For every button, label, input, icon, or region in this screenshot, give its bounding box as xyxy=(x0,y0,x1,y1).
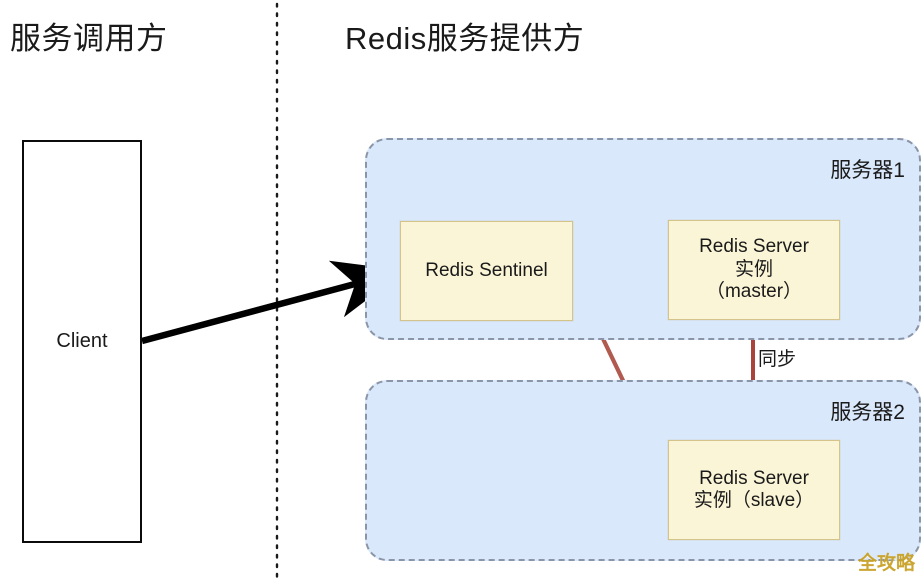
section-title-provider: Redis服务提供方 xyxy=(345,22,584,56)
node-redis-server-slave[interactable]: Redis Server 实例（slave） xyxy=(668,440,840,540)
server-group-1-label: 服务器1 xyxy=(830,154,905,184)
client-box[interactable]: Client xyxy=(22,140,142,543)
diagram-canvas: 服务调用方 Redis服务提供方 Client 服务器1 服务器2 Redis … xyxy=(0,0,922,584)
node-redis-server-master-line-3: （master） xyxy=(706,281,802,303)
server-group-2-label: 服务器2 xyxy=(830,396,905,426)
node-redis-server-slave-line-1: Redis Server xyxy=(699,468,809,490)
watermark: 全攻略 xyxy=(858,548,915,575)
client-label: Client xyxy=(56,330,107,353)
node-redis-server-master-line-1: Redis Server xyxy=(699,236,809,258)
node-redis-sentinel-line-1: Redis Sentinel xyxy=(425,260,548,282)
edge-label-sync: 同步 xyxy=(758,344,796,371)
edge-client-to-sentinel xyxy=(142,273,396,341)
node-redis-server-master[interactable]: Redis Server 实例 （master） xyxy=(668,220,840,320)
node-redis-server-master-line-2: 实例 xyxy=(735,259,773,281)
node-redis-server-slave-line-2: 实例（slave） xyxy=(694,490,814,512)
node-redis-sentinel[interactable]: Redis Sentinel xyxy=(400,221,573,321)
section-title-caller: 服务调用方 xyxy=(10,22,168,56)
